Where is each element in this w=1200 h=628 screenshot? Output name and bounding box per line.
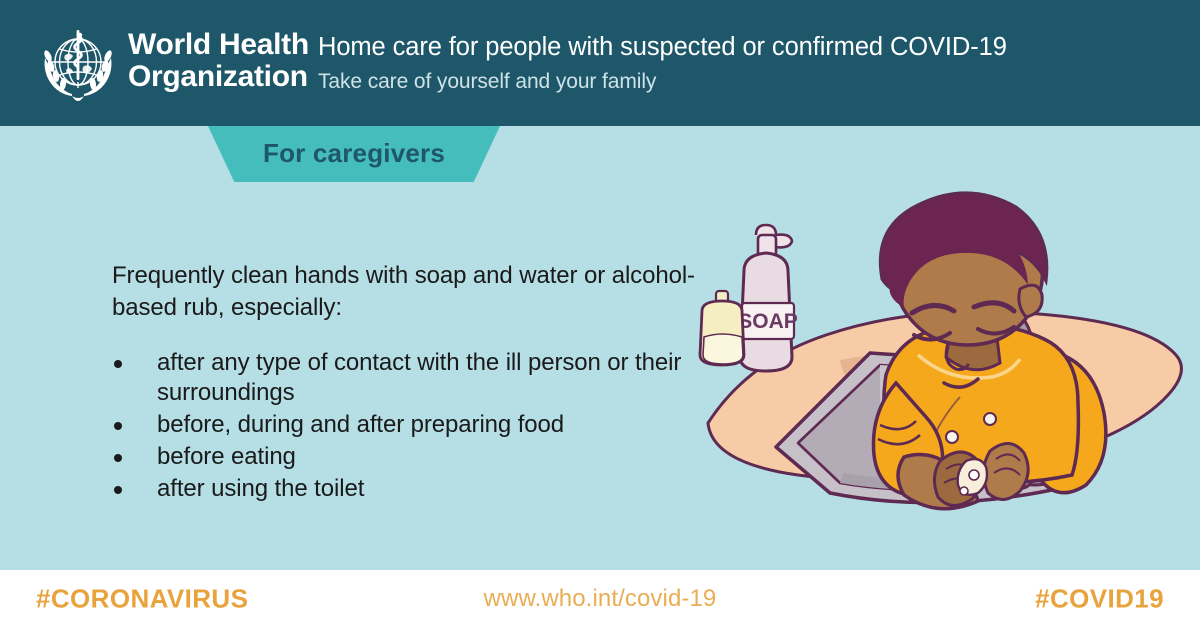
- soap-dispenser: SOAP: [738, 225, 798, 371]
- small-bottle: [700, 291, 744, 365]
- who-covid-url[interactable]: www.who.int/covid-19: [484, 585, 717, 613]
- hashtag-covid19: #COVID19: [1035, 584, 1164, 615]
- list-item: before eating: [112, 442, 732, 472]
- header-bar: World Health Organization Home care for …: [0, 0, 1200, 126]
- who-covid19-infographic: World Health Organization Home care for …: [0, 0, 1200, 628]
- banner-label: For caregivers: [208, 126, 500, 182]
- list-item: after any type of contact with the ill p…: [112, 348, 732, 408]
- page-subtitle: Take care of yourself and your family: [318, 70, 656, 94]
- audience-banner: For caregivers: [208, 126, 500, 182]
- advice-bullet-list: after any type of contact with the ill p…: [112, 348, 732, 506]
- who-emblem-icon: [32, 22, 124, 104]
- list-item: after using the toilet: [112, 474, 732, 504]
- footer-bar: #CORONAVIRUS www.who.int/covid-19 #COVID…: [0, 570, 1200, 628]
- hashtag-coronavirus: #CORONAVIRUS: [36, 584, 248, 615]
- person-washing-hands-at-sink-illustration: SOAP: [690, 175, 1190, 565]
- soap-label: SOAP: [738, 310, 798, 333]
- page-title: Home care for people with suspected or c…: [318, 33, 1007, 62]
- who-wordmark: World Health Organization: [128, 29, 309, 93]
- intro-text: Frequently clean hands with soap and wat…: [112, 260, 732, 324]
- list-item: before, during and after preparing food: [112, 410, 732, 440]
- header-divider: [300, 0, 301, 126]
